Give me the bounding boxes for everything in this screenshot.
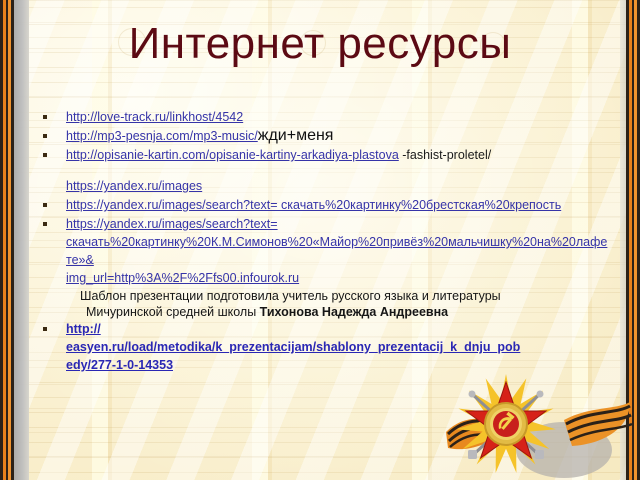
list-item: http://mp3-pesnja.com/mp3-music/жди+меня xyxy=(36,127,611,145)
order-of-patriotic-war-medal-icon xyxy=(444,372,634,480)
final-link-list: http://easyen.ru/load/metodika/k_prezent… xyxy=(36,320,611,374)
link-easyen-line1: http:// xyxy=(66,322,101,336)
link-list: http://love-track.ru/linkhost/4542 http:… xyxy=(36,108,611,287)
link-easyen-line3: edy/277-1-0-14353 xyxy=(66,358,173,372)
credit-block: Шаблон презентации подготовила учитель р… xyxy=(36,288,611,320)
page-title: Интернет ресурсы xyxy=(40,18,600,70)
link-yandex-images[interactable]: https://yandex.ru/images xyxy=(66,179,202,193)
slide: Интернет ресурсы http://love-track.ru/li… xyxy=(0,0,640,480)
link-opisanie-kartin[interactable]: http://opisanie-kartin.com/opisanie-kart… xyxy=(66,148,399,162)
st-george-ribbon-left-border xyxy=(0,0,14,480)
credit-line-2: Мичуринской средней школы Тихонова Надеж… xyxy=(66,304,611,320)
credit-author-name: Тихонова Надежда Андреевна xyxy=(260,305,448,319)
link-yandex-simonov-imgurl[interactable]: img_url=http%3A%2F%2Ffs00.infourok.ru xyxy=(66,271,299,285)
credit-school: Мичуринской средней школы xyxy=(86,305,260,319)
medal-svg xyxy=(444,372,634,480)
list-item: http://easyen.ru/load/metodika/k_prezent… xyxy=(36,320,611,374)
list-item: https://yandex.ru/images/search?text= ск… xyxy=(36,215,611,287)
link-yandex-brest[interactable]: https://yandex.ru/images/search?text= ск… xyxy=(66,198,561,212)
link-opisanie-kartin-tail: -fashist-proletel/ xyxy=(399,148,491,162)
link-easyen[interactable]: http://easyen.ru/load/metodika/k_prezent… xyxy=(66,322,520,372)
link-mp3-pesnja-suffix: жди+меня xyxy=(258,127,334,144)
credit-line-1: Шаблон презентации подготовила учитель р… xyxy=(66,288,611,304)
left-gray-band xyxy=(14,0,29,480)
link-mp3-pesnja[interactable]: http://mp3-pesnja.com/mp3-music/ xyxy=(66,129,258,143)
list-item: https://yandex.ru/images/search?text= ск… xyxy=(36,196,611,214)
link-easyen-line2: easyen.ru/load/metodika/k_prezentacijam/… xyxy=(66,340,520,354)
link-love-track[interactable]: http://love-track.ru/linkhost/4542 xyxy=(66,110,243,124)
list-item: https://yandex.ru/images xyxy=(36,177,611,195)
list-item: http://opisanie-kartin.com/opisanie-kart… xyxy=(36,146,611,164)
list-spacer xyxy=(36,165,611,176)
link-yandex-simonov[interactable]: https://yandex.ru/images/search?text= ск… xyxy=(66,217,607,267)
list-item: http://love-track.ru/linkhost/4542 xyxy=(36,108,611,126)
content-body: http://love-track.ru/linkhost/4542 http:… xyxy=(36,108,611,375)
